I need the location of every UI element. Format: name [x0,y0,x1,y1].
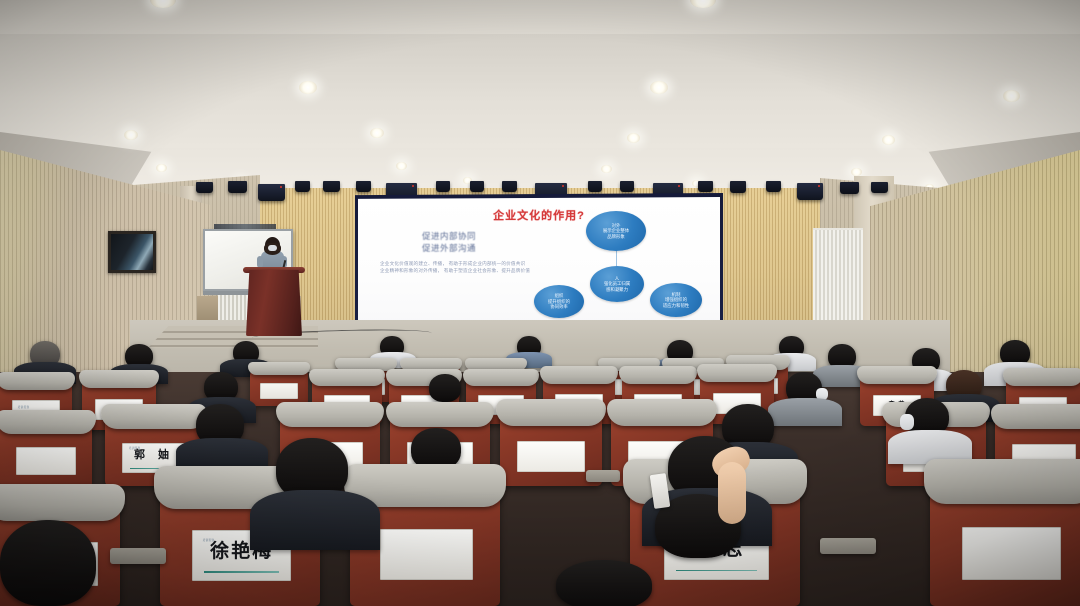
seat[interactable] [250,366,308,406]
audience-head-foreground [0,520,96,606]
seat-headrest [857,366,937,384]
seat-armrest [820,538,876,554]
diagram-node-left: 组织 提升组织的 协同效率 [534,285,584,318]
diagram-node-top-label: 对外 展示企业整体 品牌形象 [603,223,629,240]
ceiling-speaker-icon [323,181,340,192]
ceiling-downlight [851,168,862,176]
seat-headrest [0,372,75,390]
ceiling-downlight [156,164,167,172]
slide-bullets: 企业文化价值观的建立、传播， 有助于形成企业内部统一的价值共识 企业精神和形象的… [380,260,600,274]
ceiling-downlight [601,165,612,173]
ceiling-speaker-icon [730,181,746,193]
audience-shoulders [768,398,842,426]
seat-headrest [924,459,1080,504]
ceiling-downlight [882,135,895,145]
ceiling-speaker-icon [840,182,859,194]
slide-bullet: 企业精神和形象的对外传播， 有助于塑造企业社会形象、提升品牌价值 [380,267,600,274]
ceiling-speaker-icon [766,181,781,192]
wall-display-panel [108,231,156,273]
forearm [718,462,746,524]
ceiling-speaker-icon [698,181,713,192]
ceiling-speaker-icon [588,181,602,192]
seat-name-card [16,447,77,475]
seat-headrest [386,402,494,428]
seat-headrest [248,362,311,376]
ceiling-downlight [1003,90,1020,102]
diagram-node-right: 机制 增强组织的 适应力和韧性 [650,283,702,317]
audience-head [556,560,652,606]
presenter-face-mask [268,245,277,251]
ceiling-speaker-icon [258,184,285,201]
seat-headrest [276,402,384,428]
slide-body-line: 促进内部协同 [422,230,572,242]
seat-armrest [586,470,620,482]
slide-bullet: 企业文化价值观的建立、传播， 有助于形成企业内部统一的价值共识 [380,260,600,267]
seat-headrest [540,366,618,384]
ceiling-speaker-icon [620,181,634,192]
ceiling [0,0,1080,205]
ceiling-speaker-icon [295,181,310,192]
radiator-icon [813,228,863,326]
diagram-connector [616,249,617,267]
slide-title: 企业文化的作用? [358,207,720,223]
ceiling-speaker-icon [502,181,517,192]
projection-screen[interactable]: 企业文化的作用? 促进内部协同 促进外部沟通 企业文化价值观的建立、传播， 有助… [358,197,720,334]
ceiling-speaker-icon [871,182,888,193]
ceiling-speaker-icon [356,181,371,192]
ceiling-downlight [650,81,668,94]
seat-headrest [101,404,207,429]
ceiling-downlight [299,81,317,94]
seat-name-card [517,441,584,472]
seat-armrest [110,548,166,564]
seat[interactable] [0,418,92,488]
conference-hall-photo: 企业文化的作用? 促进内部协同 促进外部沟通 企业文化价值观的建立、传播， 有助… [0,0,1080,606]
seat-headrest [607,399,717,426]
slide-body-lines: 促进内部协同 促进外部沟通 [422,230,572,254]
seat-headrest [619,366,697,384]
audience-shoulders [250,490,380,550]
seat-headrest [1003,368,1080,386]
podium [246,270,302,336]
seat[interactable] [930,474,1080,606]
diagram-node-top: 对外 展示企业整体 品牌形象 [586,211,646,251]
seat-headrest [496,399,606,426]
ceiling-downlight [370,128,384,138]
face-mask-icon [900,414,914,430]
seat-headrest [991,404,1080,430]
ceiling-speaker-icon [228,181,247,193]
seat-card-name: 郭 妯 [134,450,174,461]
seat-headrest [309,369,385,386]
ceiling-speaker-icon [196,182,213,193]
audience-head [429,374,461,402]
seat-headrest [697,364,777,382]
diagram-node-left-label: 组织 提升组织的 协同效率 [548,293,570,310]
seat-card-subtitle: 培训签到 [18,405,30,409]
diagram-node-right-label: 机制 增强组织的 适应力和韧性 [663,292,689,309]
seat-headrest [0,484,125,521]
seat-headrest [79,370,159,388]
seat-name-card [380,529,473,580]
seat-headrest [0,410,96,434]
ceiling-downlight [627,133,640,143]
ceiling-downlight [396,162,407,170]
seat-name-card [260,383,298,399]
diagram-node-center: 人 强化员工归属 感和凝聚力 [590,266,644,302]
ceiling-speaker-icon [470,181,484,192]
slide-body-line: 促进外部沟通 [422,242,572,254]
ceiling-downlight [124,130,138,140]
seat-headrest [463,369,539,386]
ceiling-speaker-icon [436,181,450,192]
diagram-node-center-label: 人 强化员工归属 感和凝聚力 [604,276,630,293]
ceiling-speaker-icon [797,183,823,200]
seat-name-card [962,527,1061,580]
